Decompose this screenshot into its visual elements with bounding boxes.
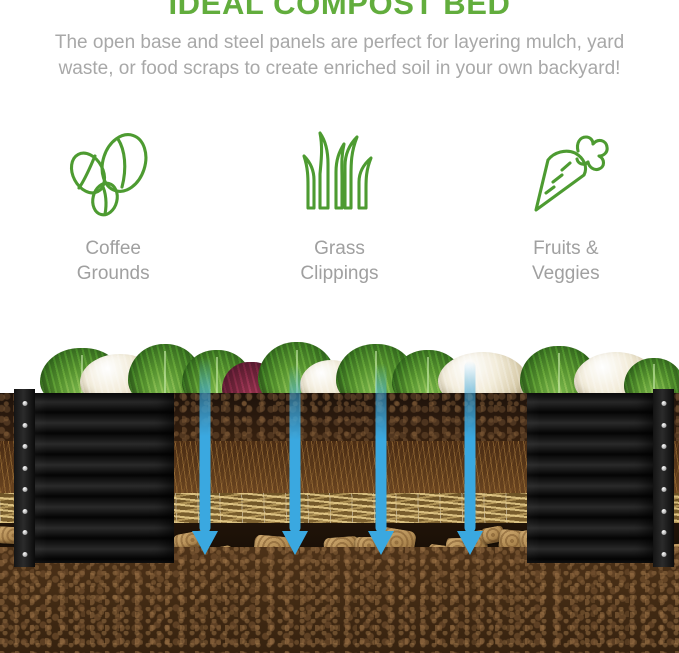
panel-rivet <box>22 444 27 449</box>
arrow-head <box>192 531 218 555</box>
panel-rivet <box>661 530 666 535</box>
product-infographic: IDEAL COMPOST BED The open base and stee… <box>0 0 679 653</box>
feature-label-line1: Coffee <box>77 236 150 261</box>
feature-label: Fruits & Veggies <box>532 236 600 286</box>
arrow-shaft <box>200 357 211 533</box>
panel-rivet <box>22 530 27 535</box>
feature-label-line2: Clippings <box>300 261 378 286</box>
page-subtitle: The open base and steel panels are perfe… <box>40 30 640 81</box>
panel-rivet <box>661 509 666 514</box>
vegetable-row <box>0 325 679 400</box>
feature-label-line1: Fruits & <box>532 236 600 261</box>
panel-rivet <box>661 552 666 557</box>
feature-list: Coffee Grounds Grass Clippings <box>0 128 679 303</box>
steel-panel-right <box>527 393 674 563</box>
panel-rivet <box>661 401 666 406</box>
panel-rivet <box>22 423 27 428</box>
feature-grass-clippings: Grass Clippings <box>226 128 452 303</box>
panel-rivet <box>22 552 27 557</box>
water-flow-arrow <box>368 363 394 533</box>
water-flow-arrow <box>457 361 483 533</box>
coffee-beans-icon <box>53 128 173 220</box>
arrow-shaft <box>290 365 301 533</box>
feature-fruits-veggies: Fruits & Veggies <box>453 128 679 303</box>
feature-label-line2: Grounds <box>77 261 150 286</box>
arrow-head <box>457 531 483 555</box>
carrot-icon <box>506 128 626 220</box>
feature-label-line2: Veggies <box>532 261 600 286</box>
corner-post <box>14 389 35 567</box>
corner-post <box>653 389 674 567</box>
water-flow-arrow <box>282 365 308 533</box>
panel-ribs <box>34 393 174 563</box>
garden-bed-photo <box>0 325 679 653</box>
feature-label: Grass Clippings <box>300 236 378 286</box>
panel-ribs <box>527 393 654 563</box>
panel-rivet <box>661 466 666 471</box>
feature-label: Coffee Grounds <box>77 236 150 286</box>
panel-rivet <box>22 401 27 406</box>
panel-rivet <box>22 509 27 514</box>
grass-blades-icon <box>279 128 399 220</box>
photo-top-edge <box>0 325 679 327</box>
panel-rivet <box>22 487 27 492</box>
water-flow-arrow <box>192 357 218 533</box>
feature-label-line1: Grass <box>300 236 378 261</box>
arrow-shaft <box>376 363 387 533</box>
page-title: IDEAL COMPOST BED <box>0 0 679 20</box>
arrow-head <box>282 531 308 555</box>
arrow-shaft <box>465 361 476 533</box>
panel-rivet <box>661 444 666 449</box>
arrow-head <box>368 531 394 555</box>
panel-rivet <box>661 423 666 428</box>
panel-rivet <box>22 466 27 471</box>
feature-coffee-grounds: Coffee Grounds <box>0 128 226 303</box>
panel-rivet <box>661 487 666 492</box>
steel-panel-left <box>14 393 174 563</box>
